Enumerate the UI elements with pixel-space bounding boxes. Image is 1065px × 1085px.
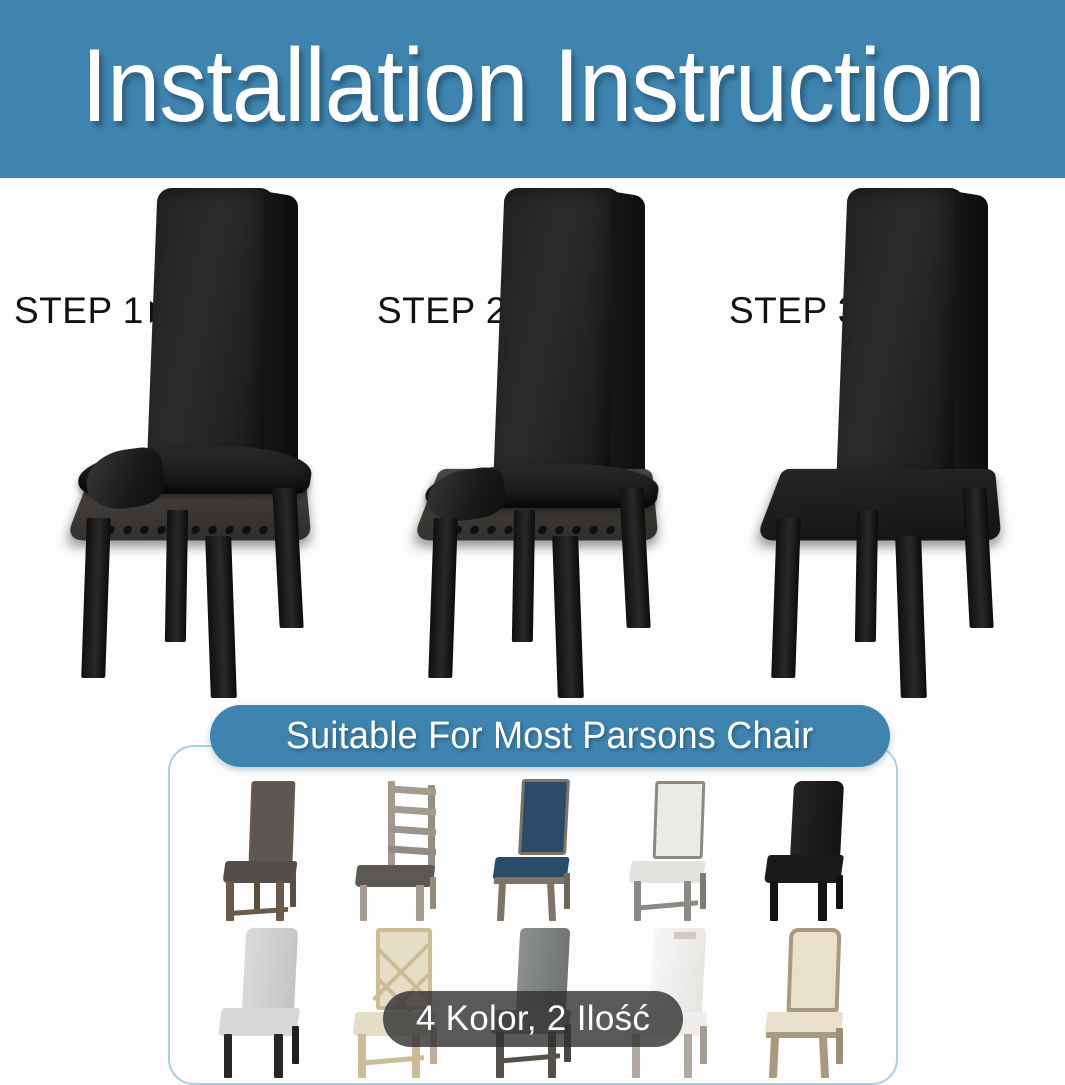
nailhead-trim [448, 524, 641, 536]
steps-section: STEP 1 STEP 2 [0, 178, 1065, 690]
thumb-seat [628, 861, 705, 883]
thumb-leg [769, 1036, 779, 1078]
variant-overlay-label: 4 Kolor, 2 Ilość [416, 999, 650, 1039]
thumbnail-cell [200, 778, 336, 923]
thumb-seat [355, 865, 436, 887]
chair-step-1 [80, 188, 355, 688]
chair-thumb-cream-framed [762, 928, 862, 1078]
thumb-leg [547, 881, 556, 921]
thumb-leg [836, 1028, 843, 1064]
page-title: Installation Instruction [81, 34, 984, 144]
thumbnail-cell [744, 923, 880, 1080]
chair-thumb-navy-upholstered [490, 779, 590, 921]
thumbnail-cell [200, 923, 336, 1080]
thumb-leg [684, 1034, 692, 1078]
thumb-leg [430, 877, 436, 909]
step-1-panel: STEP 1 [0, 178, 355, 690]
thumb-seat [222, 861, 297, 883]
chair-step-3 [770, 188, 1045, 688]
thumb-leg [700, 1026, 707, 1064]
chair-back-side [264, 191, 298, 478]
thumb-leg [360, 885, 367, 921]
thumb-leg [564, 873, 570, 909]
thumb-leg [634, 881, 641, 921]
chair-leg-front-left [428, 518, 458, 678]
thumb-back [518, 779, 570, 855]
thumb-back [790, 781, 844, 861]
thumbnail-cell [744, 778, 880, 923]
chair-thumb-light-gray-covered [218, 928, 318, 1078]
chair-back-side [611, 191, 645, 478]
variant-overlay-badge[interactable]: 4 Kolor, 2 Ilość [383, 991, 683, 1047]
chair-leg-back-left [512, 510, 535, 642]
thumb-leg [292, 1026, 299, 1064]
chair-leg-front-right [895, 536, 927, 698]
thumb-leg [224, 1034, 232, 1078]
chair-leg-front-left [81, 518, 111, 678]
step-3-panel: STEP 3 [710, 178, 1065, 690]
thumb-back-post [428, 785, 435, 869]
header-banner: Installation Instruction [0, 0, 1065, 178]
chair-leg-back-left [855, 510, 878, 642]
chair-back [493, 188, 622, 476]
nailhead-trim [101, 524, 294, 536]
chair-thumb-white-panel [626, 781, 726, 921]
chair-leg-back-left [165, 510, 188, 642]
thumb-leg [254, 877, 260, 911]
suitable-badge: Suitable For Most Parsons Chair [210, 705, 890, 767]
thumb-leg [276, 881, 284, 921]
thumb-leg [770, 881, 778, 921]
chair-back-side [954, 191, 988, 478]
chair-thumb-dark-gray-leather [218, 781, 318, 921]
thumbnail-cell [336, 778, 472, 923]
thumb-leg [700, 873, 706, 909]
chair-leg-front-left [771, 518, 801, 678]
suitable-badge-label: Suitable For Most Parsons Chair [286, 715, 814, 758]
thumb-seat [218, 1008, 300, 1036]
chair-thumb-black-parsons [762, 781, 862, 921]
thumb-back [242, 928, 299, 1014]
chair-thumb-slat-back-wood [354, 781, 454, 921]
thumb-back [653, 781, 706, 859]
thumb-back [249, 781, 296, 863]
chair-leg-front-right [205, 536, 237, 698]
step-2-panel: STEP 2 [355, 178, 710, 690]
thumb-leg [416, 885, 424, 921]
thumb-leg [274, 1034, 283, 1078]
thumb-leg [358, 1034, 366, 1078]
thumb-leg [290, 873, 296, 907]
thumb-seat [764, 855, 844, 883]
chair-back [146, 188, 275, 476]
chair-back [836, 188, 965, 476]
chair-step-2 [427, 188, 702, 688]
thumb-leg [497, 881, 506, 921]
thumb-leg [836, 875, 843, 909]
thumbnail-cell [472, 778, 608, 923]
thumb-leg [819, 1036, 829, 1078]
chair-leg-front-right [552, 536, 584, 698]
thumbnail-cell [608, 778, 744, 923]
thumb-back-notch [674, 932, 696, 939]
thumb-back [787, 928, 842, 1012]
thumb-back-post [388, 781, 395, 867]
thumb-leg [818, 881, 827, 921]
